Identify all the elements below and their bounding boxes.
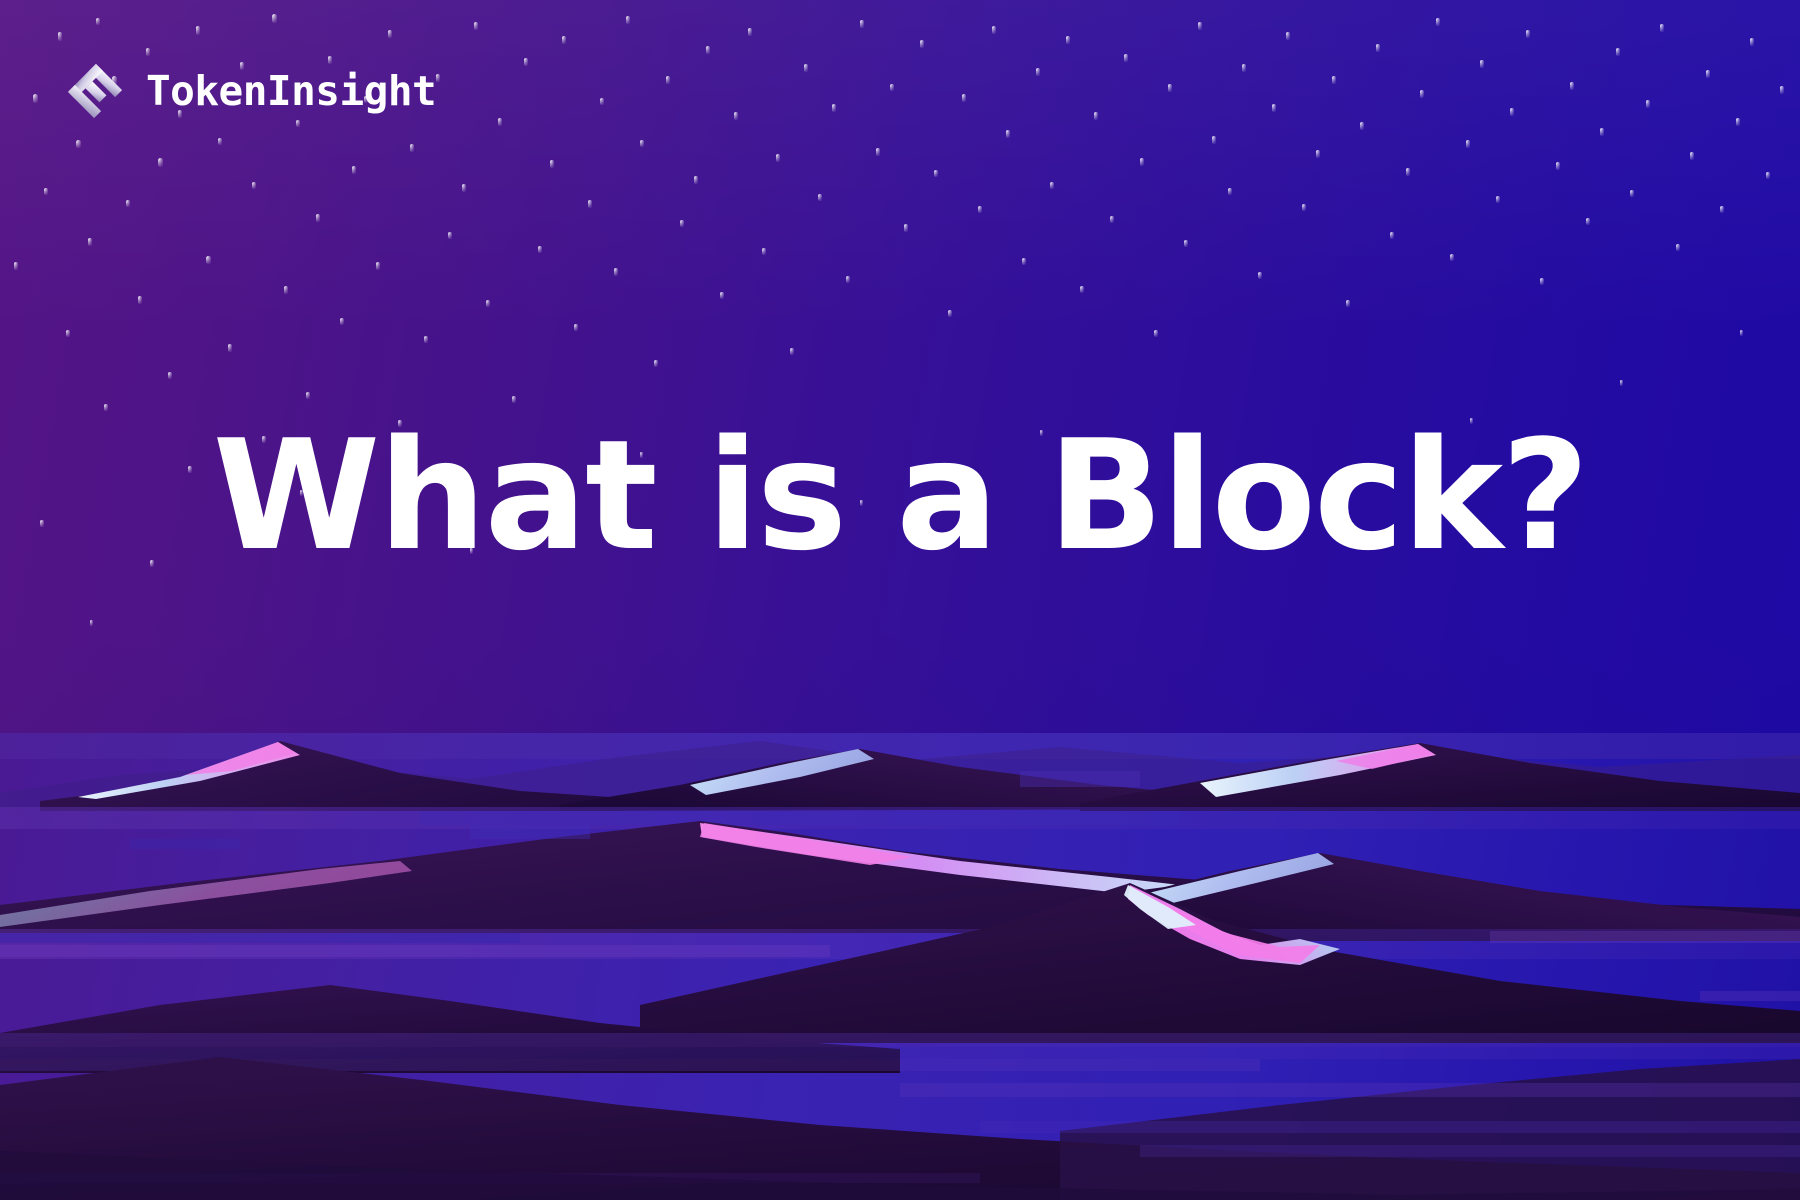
tokeninsight-diamond-logo-icon [62,58,128,124]
page-title-text: What is a Block? [213,418,1588,573]
page-title: What is a Block? [0,418,1800,573]
cover-banner: TokenInsight What is a Block? [0,0,1800,1200]
mountain-range-icon [0,733,1800,1200]
brand-logo[interactable]: TokenInsight [62,58,436,124]
brand-wordmark: TokenInsight [146,71,436,112]
